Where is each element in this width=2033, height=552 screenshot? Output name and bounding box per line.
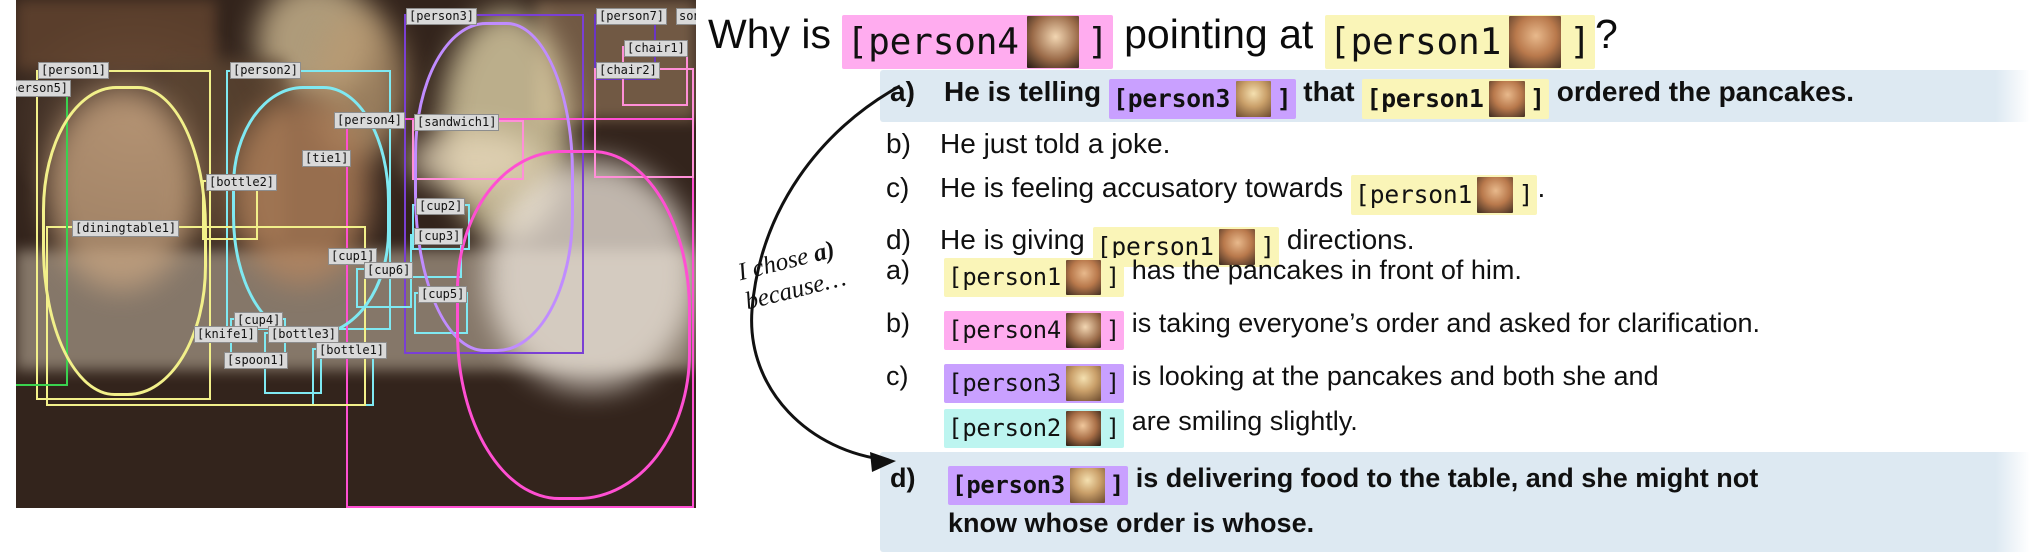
person-chip-person4[interactable]: [person4] [944, 311, 1124, 350]
person-thumbnail [1027, 16, 1079, 68]
chip-bracket-close: ] [1530, 80, 1545, 118]
text-run: are smiling slightly. [1124, 406, 1358, 436]
text-run: pointing at [1113, 11, 1325, 57]
object-tag: [cup6] [364, 262, 413, 279]
text-run: . [1537, 172, 1545, 203]
text-run: He just told a joke. [940, 128, 1170, 159]
chip-bracket-close: ] [1110, 467, 1124, 504]
text-run: Why is [708, 11, 842, 57]
object-tag: [cup5] [418, 286, 467, 303]
object-tag: son6 [676, 8, 696, 25]
chip-bracket-open: [ [948, 312, 962, 349]
text-run: ? [1595, 11, 1618, 57]
person-thumbnail [1509, 16, 1561, 68]
object-tag: [person3] [406, 8, 477, 25]
chip-bracket-open: [ [948, 365, 962, 402]
answer-option-a[interactable]: a)He is telling [person3] that [person1]… [880, 70, 2030, 122]
object-tag: [spoon1] [224, 352, 288, 369]
option-text: He is feeling accusatory towards [person… [940, 169, 2030, 215]
object-tag: [person7] [596, 8, 667, 25]
option-label: b) [886, 125, 940, 163]
rationale-option-d[interactable]: d)[person3] is delivering food to the ta… [880, 452, 2030, 552]
object-tag: [bottle3] [268, 326, 339, 343]
person-thumbnail [1489, 81, 1525, 117]
person-thumbnail [1066, 366, 1100, 400]
rationale-option-a[interactable]: a)[person1] has the pancakes in front of… [880, 248, 2030, 301]
person-chip-person3[interactable]: [person3] [944, 364, 1124, 403]
object-tag: [knife1] [194, 326, 258, 343]
chip-bracket-close: ] [1569, 16, 1591, 68]
chip-bracket-close: ] [1277, 80, 1292, 118]
object-tag: [chair1] [624, 40, 688, 57]
person-thumbnail [1066, 411, 1100, 445]
chip-bracket-close: ] [1106, 410, 1120, 447]
option-text: He just told a joke. [940, 125, 2030, 163]
object-tag: [person4] [334, 112, 405, 129]
person-chip-person1[interactable]: [person1] [1362, 79, 1549, 119]
person-chip-person3[interactable]: [person3] [1109, 79, 1296, 119]
mask-person4 [456, 150, 691, 500]
person-chip-person4[interactable]: [person4] [842, 15, 1112, 69]
answer-option-c[interactable]: c)He is feeling accusatory towards [pers… [880, 166, 2030, 218]
text-run: is delivering food to the table, and she… [1128, 463, 1758, 493]
object-tag: [person2] [230, 62, 301, 79]
option-text: [person3] is looking at the pancakes and… [944, 358, 2030, 448]
chip-bracket-open: [ [952, 467, 966, 504]
object-tag: [bottle1] [316, 342, 387, 359]
object-tag: [chair2] [596, 62, 660, 79]
text-run: is taking everyone’s order and asked for… [1124, 308, 1760, 338]
text-run: has the pancakes in front of him. [1124, 255, 1522, 285]
answer-choice-list[interactable]: a)He is telling [person3] that [person1]… [880, 70, 2030, 270]
person-thumbnail [1070, 468, 1104, 502]
chip-bracket-close: ] [1106, 365, 1120, 402]
option-text: He is telling [person3] that [person1] o… [944, 73, 2030, 119]
text-run: ordered the pancakes. [1549, 76, 1854, 107]
object-tag: [tie1] [302, 150, 351, 167]
chip-label: person1 [962, 259, 1061, 296]
object-tag: [person1] [38, 62, 109, 79]
chip-label: person1 [1350, 16, 1501, 68]
option-label: c) [886, 358, 944, 395]
chip-bracket-open: [ [948, 410, 962, 447]
chip-bracket-open: [ [846, 16, 868, 68]
option-label: a) [890, 73, 944, 111]
person-thumbnail [1066, 260, 1100, 294]
chip-label: person1 [1381, 80, 1483, 118]
annotated-photo-panel: [person1][person5][person2][person3][per… [16, 0, 696, 508]
object-tag: [cup3] [414, 228, 463, 245]
option-label: a) [886, 252, 944, 289]
chip-bracket-close: ] [1106, 312, 1120, 349]
text-run: know whose order is whose. [948, 508, 1314, 538]
chip-bracket-close: ] [1519, 176, 1534, 214]
person-chip-person1[interactable]: [person1] [1351, 175, 1538, 215]
text-run: He is feeling accusatory towards [940, 172, 1351, 203]
chip-label: person1 [1370, 176, 1472, 214]
text-run: that [1296, 76, 1363, 107]
option-text: [person4] is taking everyone’s order and… [944, 305, 2030, 350]
rationale-option-b[interactable]: b)[person4] is taking everyone’s order a… [880, 301, 2030, 354]
mask-person1 [42, 86, 207, 396]
rationale-option-c[interactable]: c)[person3] is looking at the pancakes a… [880, 354, 2030, 452]
person-thumbnail [1477, 177, 1513, 213]
option-label: b) [886, 305, 944, 342]
text-run: He is telling [944, 76, 1109, 107]
qa-panel: Why is [person4] pointing at [person1]? … [700, 0, 2033, 508]
page-root: [person1][person5][person2][person3][per… [0, 0, 2033, 508]
text-run: is looking at the pancakes and both she … [1124, 361, 1658, 391]
answer-option-b[interactable]: b)He just told a joke. [880, 122, 2030, 166]
chip-bracket-close: ] [1106, 259, 1120, 296]
chip-bracket-close: ] [1087, 16, 1109, 68]
object-tag: [bottle2] [206, 174, 277, 191]
option-text: [person1] has the pancakes in front of h… [944, 252, 2030, 297]
person-chip-person3[interactable]: [person3] [948, 466, 1128, 505]
chip-label: person2 [962, 410, 1061, 447]
chip-label: person4 [962, 312, 1061, 349]
option-label: c) [886, 169, 940, 207]
person-chip-person1[interactable]: [person1] [1325, 15, 1595, 69]
chip-bracket-open: [ [1329, 16, 1351, 68]
chip-bracket-open: [ [1355, 176, 1370, 214]
rationale-choice-list[interactable]: a)[person1] has the pancakes in front of… [880, 248, 2030, 552]
option-label: d) [890, 460, 948, 497]
object-tag: [sandwich1] [414, 114, 499, 131]
chip-bracket-open: [ [948, 259, 962, 296]
chip-label: person3 [966, 467, 1065, 504]
option-text: [person3] is delivering food to the tabl… [948, 460, 2030, 542]
chip-label: person3 [1128, 80, 1230, 118]
person-thumbnail [1066, 313, 1100, 347]
object-tag: [cup2] [416, 198, 465, 215]
person-chip-person2[interactable]: [person2] [944, 409, 1124, 448]
object-tag: [person5] [16, 80, 71, 97]
chip-label: person3 [962, 365, 1061, 402]
object-tag: [diningtable1] [72, 220, 179, 237]
person-chip-person1[interactable]: [person1] [944, 258, 1124, 297]
chip-bracket-open: [ [1113, 80, 1128, 118]
chip-label: person4 [868, 16, 1019, 68]
person-thumbnail [1236, 81, 1272, 117]
chip-bracket-open: [ [1366, 80, 1381, 118]
question-line: Why is [person4] pointing at [person1]? [708, 8, 1618, 69]
